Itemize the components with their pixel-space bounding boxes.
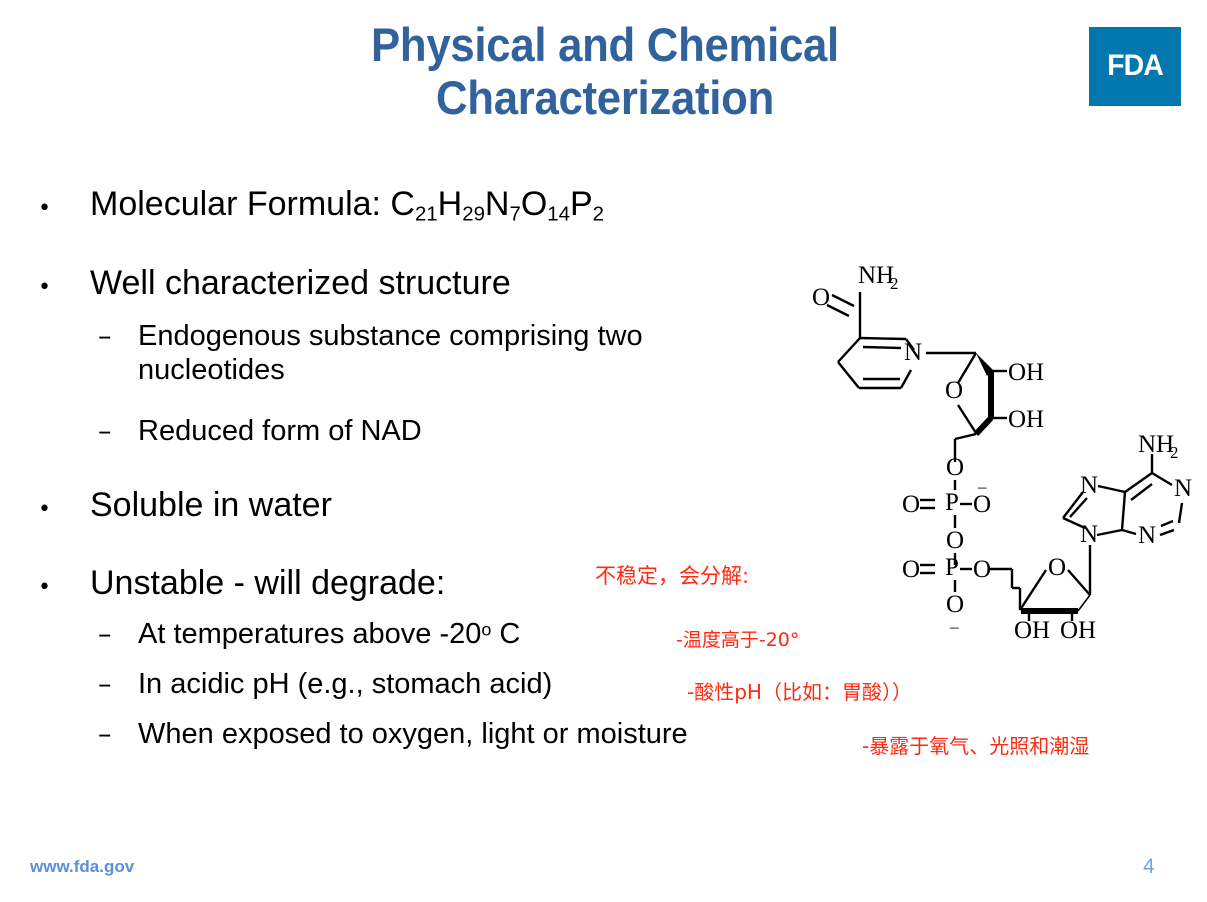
subbullet-acidic-ph-text: In acidic pH (e.g., stomach acid): [138, 668, 552, 702]
label-p2-oxygen-bottom: O: [946, 591, 964, 618]
label-oh-3: OH: [1014, 617, 1050, 640]
bullet-marker-dot: •: [38, 197, 90, 221]
degree-symbol: o: [481, 619, 491, 639]
bullet-well-characterized: • Well characterized structure: [38, 265, 511, 302]
bullet-molecular-formula: • Molecular Formula: C21H29N7O14P2: [38, 186, 604, 226]
label-phosphorus-1: P: [945, 489, 959, 516]
page-title-line-2: Characterization: [228, 71, 981, 124]
footer-url[interactable]: www.fda.gov: [30, 857, 134, 877]
label-oh-2: OH: [1008, 406, 1044, 433]
subbullet-endogenous-substance: – Endogenous substance comprising two nu…: [98, 320, 643, 387]
annotation-exposure: -暴露于氧气、光照和潮湿: [862, 730, 1089, 759]
subbullet-endogenous-substance-text: Endogenous substance comprising two nucl…: [138, 320, 643, 387]
label-p2-oxygen-right: O: [973, 556, 991, 583]
label-p2-negative-charge: –: [949, 617, 959, 636]
slide-canvas: Physical and Chemical Characterization F…: [0, 0, 1207, 902]
label-adenine-n1: N: [1174, 475, 1192, 502]
label-carbonyl-oxygen: O: [812, 284, 830, 311]
label-adenine-nh2-sub: 2: [1170, 443, 1179, 462]
bullet-marker-dash: –: [98, 719, 138, 750]
bullet-marker-dot: •: [38, 498, 90, 522]
subbullet-line-2: nucleotides: [138, 354, 643, 388]
subbullet-oxygen-light-moisture-text: When exposed to oxygen, light or moistur…: [138, 718, 688, 752]
page-title: Physical and Chemical Characterization: [228, 18, 981, 124]
label-nh2-nicotinamide-sub: 2: [890, 274, 899, 293]
fda-logo: FDA: [1089, 27, 1181, 106]
page-number: 4: [1143, 855, 1155, 879]
bullet-marker-dot: •: [38, 276, 90, 300]
label-adenine-n3: N: [1138, 522, 1156, 549]
page-title-line-1: Physical and Chemical: [228, 18, 981, 71]
nadh-structure-diagram: NH 2 O N: [780, 240, 1200, 640]
subbullet-reduced-form-nad-text: Reduced form of NAD: [138, 415, 422, 449]
annotation-unstable: 不稳定，会分解:: [595, 560, 749, 590]
label-adenine-nh2: NH: [1138, 431, 1174, 458]
bullet-unstable-degrade-text: Unstable - will degrade:: [90, 565, 445, 602]
label-adenine-n7: N: [1080, 472, 1098, 499]
label-phosphate-link-oxygen-top: O: [946, 454, 964, 481]
label-oh-1: OH: [1008, 359, 1044, 386]
bullet-marker-dash: –: [98, 416, 138, 447]
bullet-molecular-formula-text: Molecular Formula: C21H29N7O14P2: [90, 186, 604, 226]
label-ring-nitrogen: N: [904, 339, 922, 366]
label-p1-oxygen-left: O: [902, 491, 920, 518]
subbullet-line-1: Endogenous substance comprising two: [138, 320, 643, 354]
molecular-formula-value: C21H29N7O14P2: [390, 185, 604, 223]
subbullet-acidic-ph: – In acidic pH (e.g., stomach acid): [98, 668, 552, 702]
label-phosphorus-2: P: [945, 554, 959, 581]
bullet-marker-dash: –: [98, 619, 138, 650]
subbullet-oxygen-light-moisture: – When exposed to oxygen, light or moist…: [98, 718, 688, 752]
bullet-well-characterized-text: Well characterized structure: [90, 265, 511, 302]
label-p2-oxygen-left: O: [902, 556, 920, 583]
label-ribose2-oxygen: O: [1048, 554, 1066, 581]
subbullet-reduced-form-nad: – Reduced form of NAD: [98, 415, 422, 449]
subbullet-temperature: – At temperatures above -20o C: [98, 618, 520, 652]
annotation-acidic-ph: -酸性pH（比如：胃酸））: [687, 676, 912, 705]
bullet-marker-dot: •: [38, 576, 90, 600]
label-bridge-oxygen: O: [946, 527, 964, 554]
bullet-marker-dash: –: [98, 321, 138, 352]
bullet-marker-dash: –: [98, 669, 138, 700]
bullet-soluble-in-water-text: Soluble in water: [90, 487, 332, 524]
bullet-soluble-in-water: • Soluble in water: [38, 487, 332, 524]
nadh-structure-svg: NH 2 O N: [780, 240, 1200, 640]
subbullet-temperature-text: At temperatures above -20o C: [138, 618, 520, 652]
label-p1-negative-charge: –: [977, 477, 987, 496]
label-adenine-n9: N: [1080, 521, 1098, 548]
fda-logo-text: FDA: [1091, 49, 1178, 83]
bullet-unstable-degrade: • Unstable - will degrade:: [38, 565, 445, 602]
label-nh2-nicotinamide: NH: [858, 262, 894, 289]
molecular-formula-label: Molecular Formula:: [90, 185, 390, 223]
label-oh-4: OH: [1060, 617, 1096, 640]
